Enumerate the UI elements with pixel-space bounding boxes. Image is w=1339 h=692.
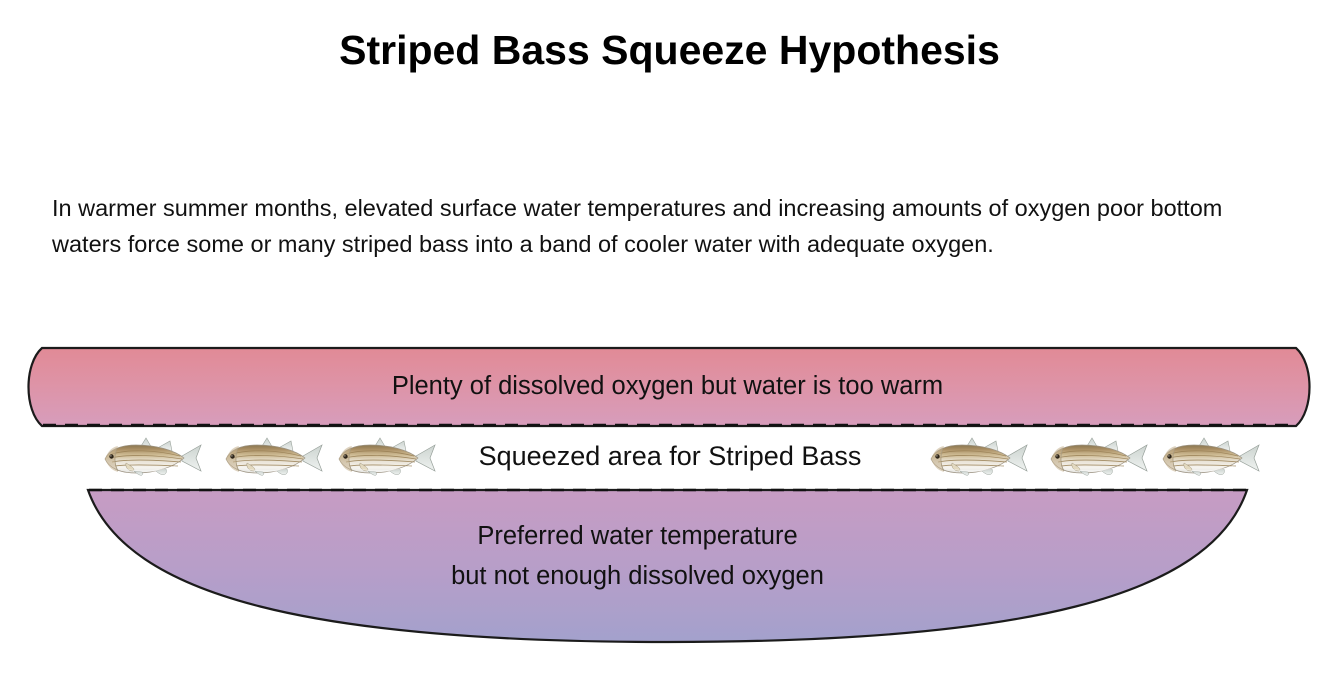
intro-paragraph: In warmer summer months, elevated surfac… [52, 190, 1290, 262]
striped-bass-fish-icon [98, 435, 206, 481]
striped-bass-fish-icon [219, 435, 327, 481]
striped-bass-fish-icon [1156, 435, 1264, 481]
warm-layer-shape [29, 348, 1310, 426]
striped-bass-fish-icon [332, 435, 440, 481]
cold-layer-shape [88, 490, 1247, 642]
diagram-canvas [0, 330, 1339, 660]
striped-bass-squeeze-diagram: Plenty of dissolved oxygen but water is … [0, 330, 1339, 660]
striped-bass-fish-icon [1044, 435, 1152, 481]
page-title: Striped Bass Squeeze Hypothesis [0, 26, 1339, 74]
striped-bass-fish-icon [924, 435, 1032, 481]
